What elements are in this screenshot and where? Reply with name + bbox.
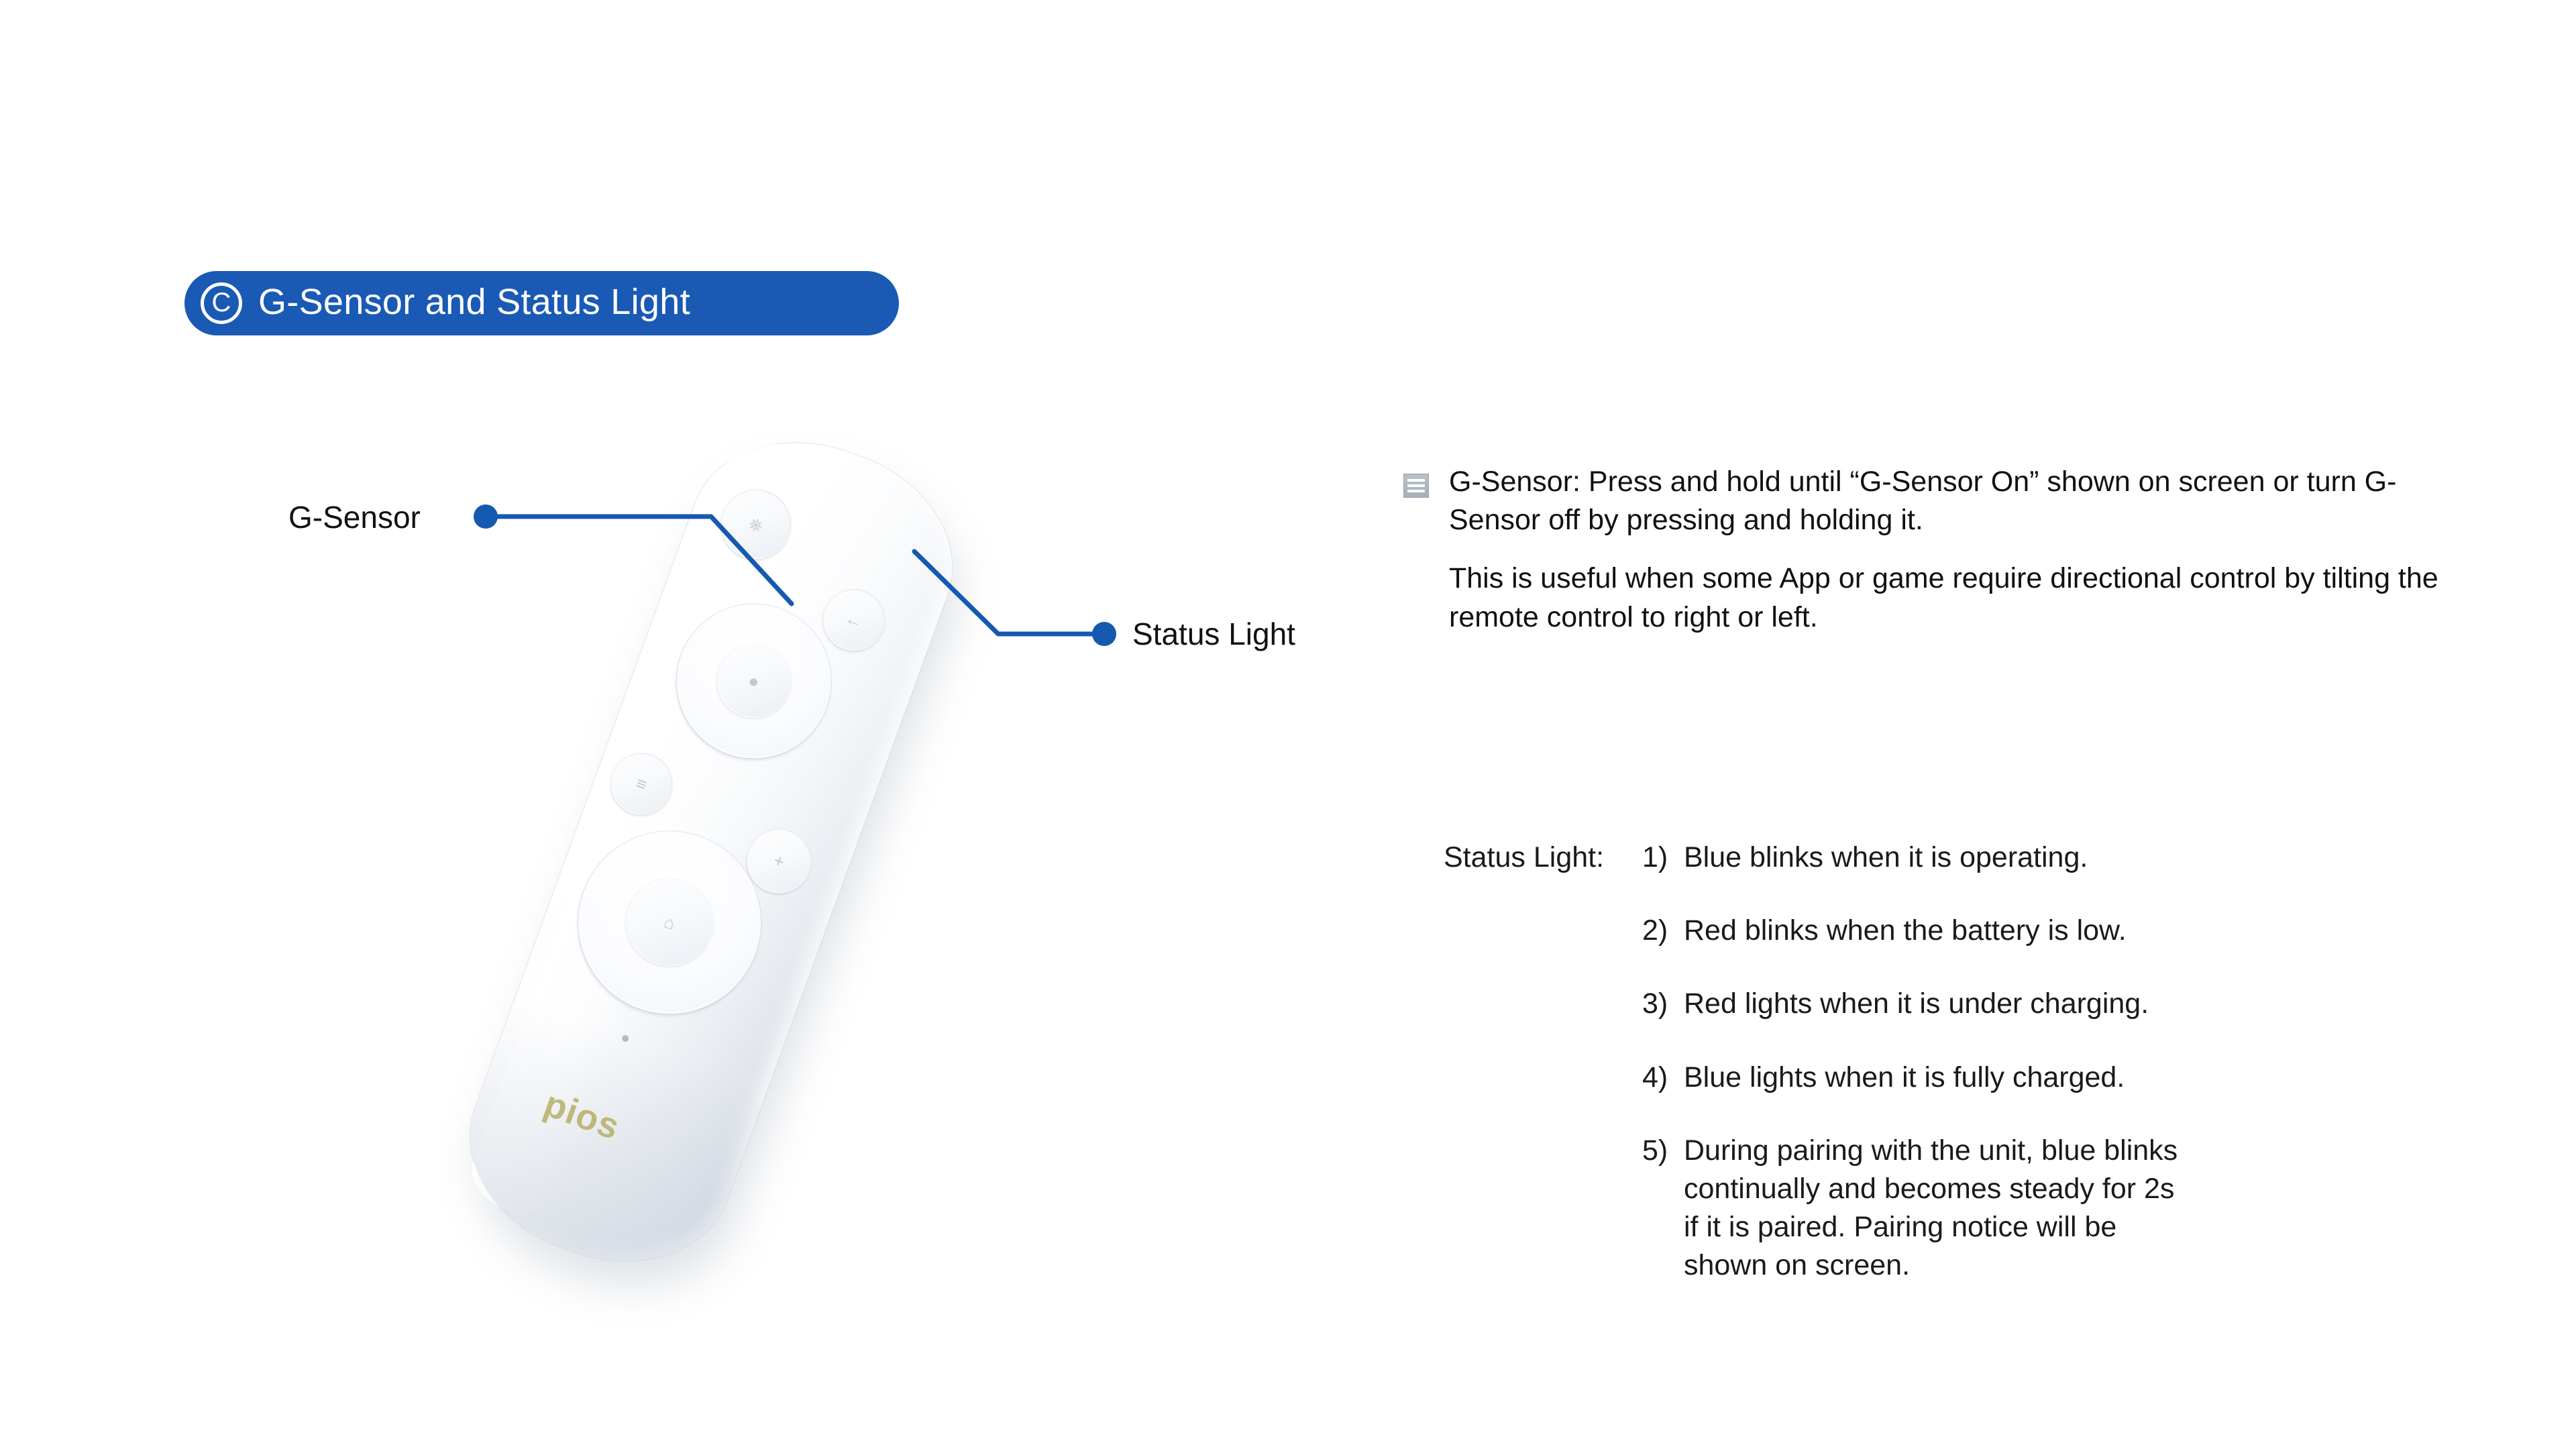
status-light-remaining-items: 2) Red blinks when the battery is low. 3… (1642, 912, 2490, 1285)
power-icon: ⎈ (711, 480, 800, 569)
gsensor-paragraph-2: This is useful when some App or game req… (1449, 559, 2477, 636)
status-light-led (621, 1034, 630, 1043)
ok-icon: ● (706, 634, 801, 729)
status-item-line: if it is paired. Pairing notice will be (1684, 1208, 2490, 1246)
list-icon (1403, 474, 1429, 498)
list-item: 3) Red lights when it is under charging. (1642, 985, 2490, 1023)
navigation-center-upper: ● (706, 634, 801, 729)
status-item-number: 4) (1642, 1059, 1684, 1097)
home-icon: ⌂ (614, 867, 726, 979)
section-badge-letter: C (212, 289, 231, 316)
list-item: 5) During pairing with the unit, blue bl… (1642, 1132, 2490, 1285)
list-icon-bar (1407, 490, 1425, 492)
home-button: ⌂ (614, 867, 726, 979)
status-item-text: Blue lights when it is fully charged. (1684, 1059, 2490, 1097)
status-item-number: 5) (1642, 1132, 1684, 1170)
callout-label-status-light: Status Light (1132, 619, 1295, 649)
list-item: 2) Red blinks when the battery is low. (1642, 912, 2490, 950)
status-item-text: Red lights when it is under charging. (1684, 985, 2490, 1023)
status-item-text: Red blinks when the battery is low. (1684, 912, 2490, 950)
gsensor-paragraph-1: G-Sensor: Press and hold until “G-Sensor… (1449, 463, 2477, 539)
navigation-ring-upper: ● (655, 582, 853, 780)
status-item-number: 2) (1642, 912, 1684, 950)
callout-label-gsensor: G-Sensor (288, 502, 421, 533)
status-light-first-row: Status Light: 1) Blue blinks when it is … (1444, 839, 2490, 877)
gsensor-description-block: G-Sensor: Press and hold until “G-Sensor… (1403, 463, 2477, 637)
status-item-text: During pairing with the unit, blue blink… (1684, 1132, 2490, 1285)
status-item-number: 3) (1642, 985, 1684, 1023)
page-title: G-Sensor and Status Light (258, 284, 690, 320)
list-icon-bar (1407, 484, 1425, 487)
list-item: 4) Blue lights when it is fully charged. (1642, 1059, 2490, 1097)
list-icon-bar (1407, 479, 1425, 482)
status-item-text: Blue blinks when it is operating. (1684, 839, 2490, 877)
back-arrow-icon: ← (814, 580, 894, 659)
status-item-line: shown on screen. (1684, 1246, 2490, 1285)
remote-control-body: ⎈ ← ● ≡ + ⌂ pios (441, 409, 982, 1295)
back-button: ← (814, 580, 894, 659)
power-button: ⎈ (711, 480, 800, 569)
description-column: G-Sensor: Press and hold until “G-Sensor… (1403, 463, 2477, 637)
status-light-section: Status Light: 1) Blue blinks when it is … (1444, 839, 2490, 1285)
status-item-number: 1) (1642, 839, 1684, 877)
status-item-line: continually and becomes steady for 2s (1684, 1170, 2490, 1208)
menu-button: ≡ (602, 745, 682, 824)
section-header: C G-Sensor and Status Light (184, 271, 899, 335)
status-light-label: Status Light: (1444, 839, 1625, 877)
status-item-line: During pairing with the unit, blue blink… (1684, 1132, 2490, 1170)
brand-logo: pios (539, 1085, 625, 1146)
list-item: 1) Blue blinks when it is operating. (1642, 839, 2490, 877)
section-badge: C (201, 282, 242, 324)
status-light-first-item-wrap: 1) Blue blinks when it is operating. (1642, 839, 2490, 877)
remote-control-figure: ⎈ ← ● ≡ + ⌂ pios (376, 402, 1114, 1375)
menu-icon: ≡ (602, 745, 682, 824)
